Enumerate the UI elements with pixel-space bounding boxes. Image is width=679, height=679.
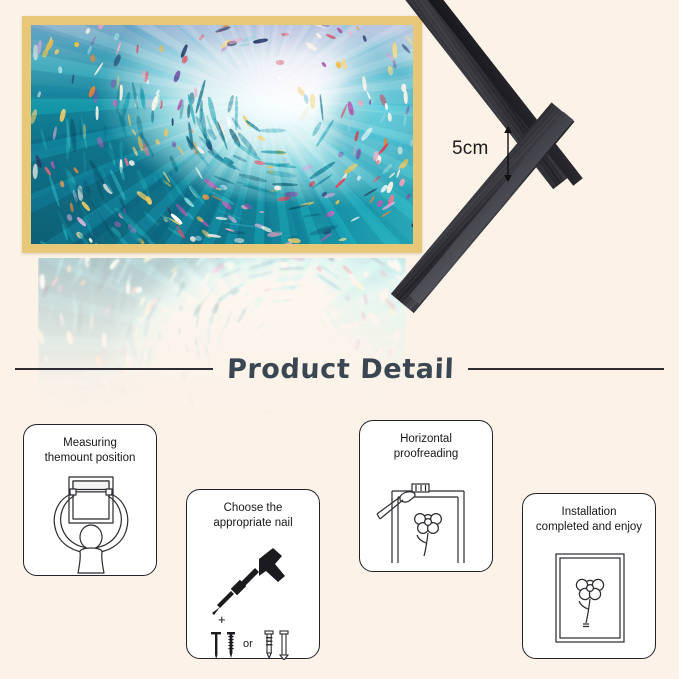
gold-frame-border xyxy=(22,16,422,253)
heading-rule-right xyxy=(468,368,664,370)
plus-symbol: + xyxy=(218,612,226,627)
heading-rule-left xyxy=(15,368,213,370)
step-card-measuring[interactable]: Measuring themount position xyxy=(23,424,157,576)
caption-line-2: appropriate nail xyxy=(213,517,292,529)
step-card-horizontal-proofreading[interactable]: Horizontal proofreading xyxy=(359,420,493,572)
caption-line-2: proofreading xyxy=(394,448,459,460)
step-card-caption: Horizontal proofreading xyxy=(367,432,485,462)
caption-line-1: Installation xyxy=(562,506,617,518)
reflection-copy xyxy=(38,258,406,418)
product-image-canvas: 5cm Product Detail Measuring themount po… xyxy=(0,0,679,679)
caption-line-1: Choose the xyxy=(224,502,283,514)
artwork-reflection xyxy=(38,258,406,418)
dimension-label: 5cm xyxy=(452,138,489,160)
fish-ocean-painting xyxy=(38,258,406,418)
step-card-caption: Installation completed and enjoy xyxy=(530,505,648,535)
figure-person-holding-frame xyxy=(24,469,156,577)
section-heading: Product Detail xyxy=(0,348,679,390)
step-card-choose-nail[interactable]: Choose the appropriate nail + xyxy=(186,489,320,659)
figure-hung-framed-flower xyxy=(523,544,655,660)
page-title: Product Detail xyxy=(226,356,454,383)
framed-artwork xyxy=(22,16,422,253)
double-arrow-vertical-icon xyxy=(502,126,514,182)
step-card-caption: Measuring themount position xyxy=(31,436,149,466)
art-swirl-texture xyxy=(31,25,413,244)
fish-ocean-painting xyxy=(31,25,413,244)
figure-hammer-and-nails: + xyxy=(187,542,319,660)
caption-line-1: Measuring xyxy=(63,437,117,449)
caption-line-2: themount position xyxy=(45,452,136,464)
frame-corner-sample xyxy=(498,0,679,290)
figure-hand-leveling-frame xyxy=(360,467,492,573)
step-card-installation-complete[interactable]: Installation completed and enjoy xyxy=(522,493,656,659)
caption-line-1: Horizontal xyxy=(400,433,452,445)
step-card-caption: Choose the appropriate nail xyxy=(194,501,312,531)
or-label: or xyxy=(243,638,253,650)
caption-line-2: completed and enjoy xyxy=(536,521,642,533)
frame-depth-dimension: 5cm xyxy=(452,126,512,184)
art-swirl-texture xyxy=(38,258,406,418)
canvas-area xyxy=(31,25,413,244)
